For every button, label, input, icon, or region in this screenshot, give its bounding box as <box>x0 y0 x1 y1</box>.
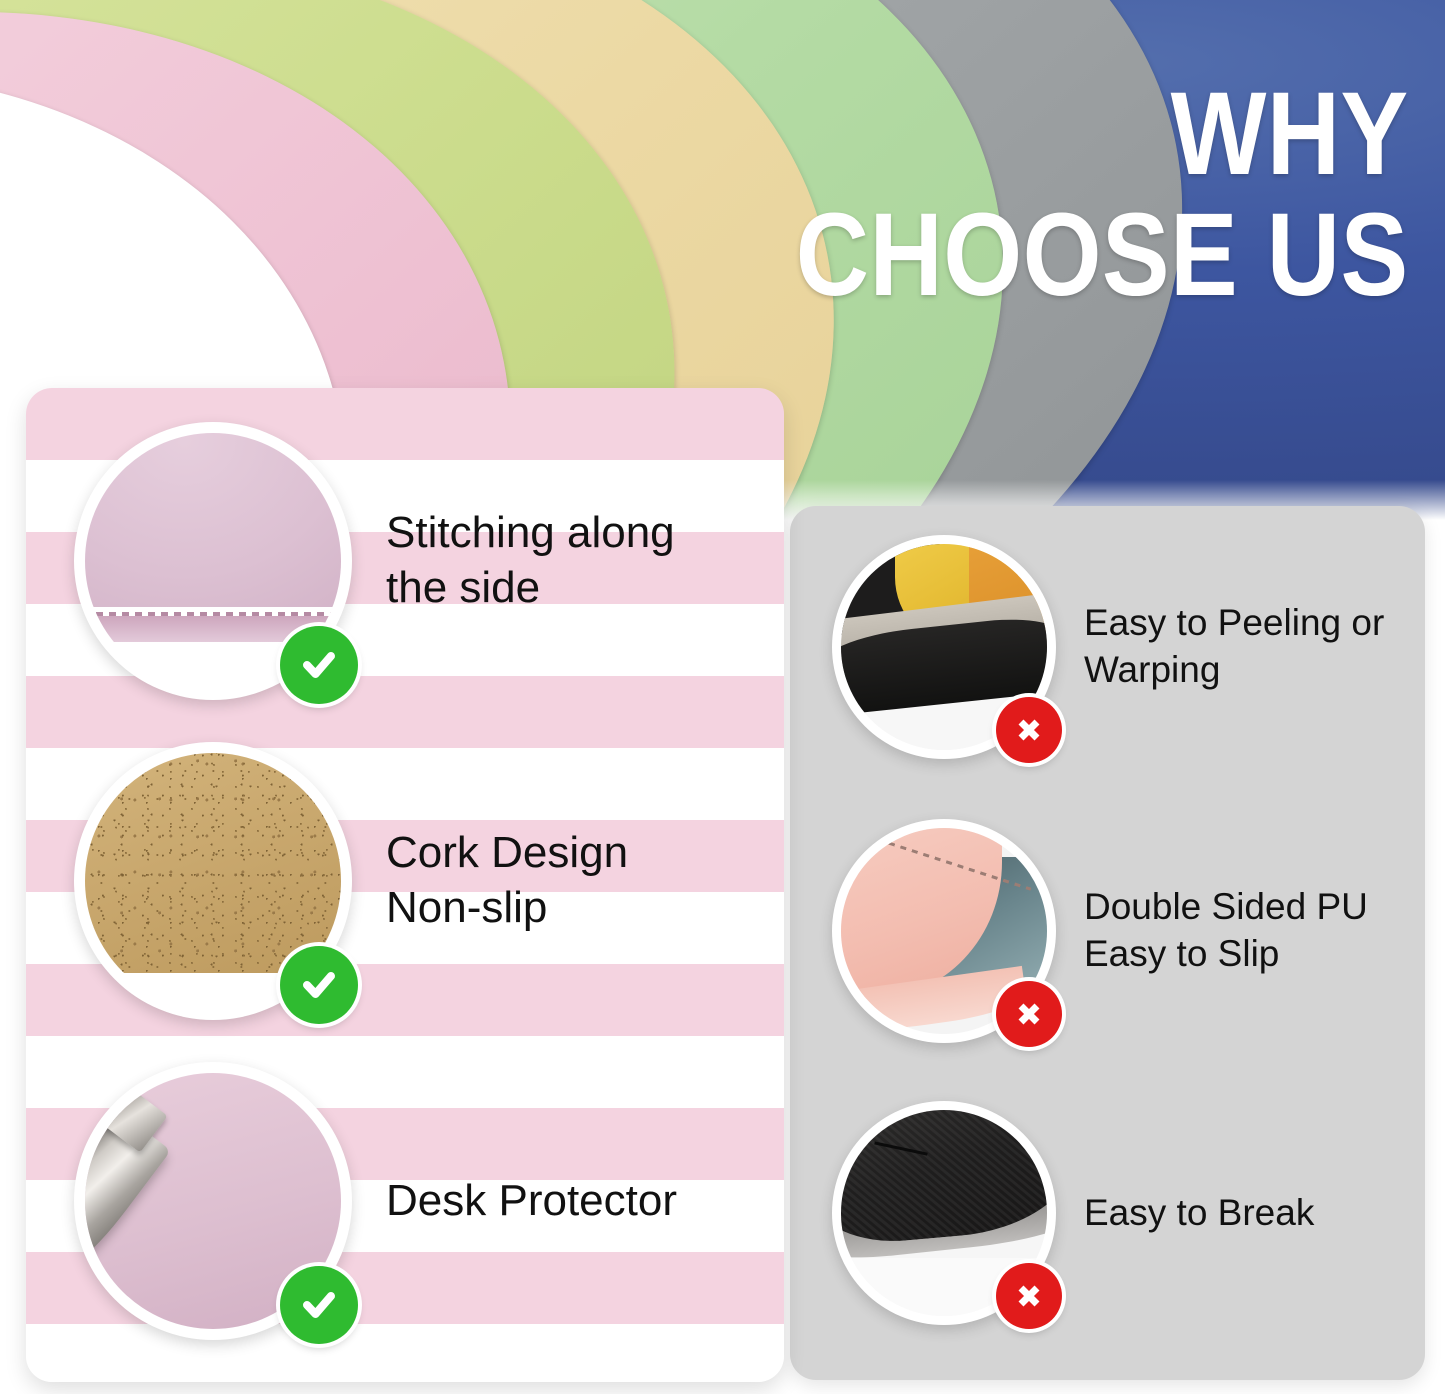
check-icon <box>280 626 358 704</box>
cons-thumb-double-sided <box>832 819 1056 1043</box>
pros-label-stitching: Stitching along the side <box>386 506 726 615</box>
title-line-1: WHY <box>796 78 1409 191</box>
cross-icon <box>996 1263 1062 1329</box>
cons-label-double-sided: Double Sided PU Easy to Slip <box>1084 884 1392 977</box>
stitch-seam-line <box>85 612 341 616</box>
page-title: WHY CHOOSE US <box>696 78 1409 313</box>
cross-icon <box>996 697 1062 763</box>
pros-thumb-stitching <box>74 422 352 700</box>
pros-item-cork: Cork Design Non-slip <box>74 736 764 1026</box>
pros-panel: Stitching along the side Cork Design Non… <box>26 388 784 1382</box>
cork-surface <box>85 753 341 973</box>
infographic-canvas: WHY CHOOSE US <box>0 0 1445 1394</box>
pros-item-stitching: Stitching along the side <box>74 416 764 706</box>
cons-item-double-sided: Double Sided PU Easy to Slip <box>832 812 1392 1050</box>
pros-label-desk-protector: Desk Protector <box>386 1174 677 1229</box>
pros-thumb-desk-protector <box>74 1062 352 1340</box>
cons-thumb-peeling <box>832 535 1056 759</box>
pros-thumb-cork <box>74 742 352 1020</box>
cons-label-peeling: Easy to Peeling or Warping <box>1084 600 1392 693</box>
cons-item-peeling: Easy to Peeling or Warping <box>832 528 1392 766</box>
stitch-leather-face <box>85 433 341 607</box>
cons-panel: Easy to Peeling or Warping <box>790 506 1425 1380</box>
pros-item-desk-protector: Desk Protector <box>74 1056 764 1346</box>
cons-label-break: Easy to Break <box>1084 1190 1314 1237</box>
pros-label-cork: Cork Design Non-slip <box>386 826 726 935</box>
cross-icon <box>996 981 1062 1047</box>
cons-thumb-break <box>832 1101 1056 1325</box>
check-icon <box>280 946 358 1024</box>
check-icon <box>280 1266 358 1344</box>
title-line-2: CHOOSE US <box>796 199 1409 312</box>
cons-item-break: Easy to Break <box>832 1094 1392 1332</box>
